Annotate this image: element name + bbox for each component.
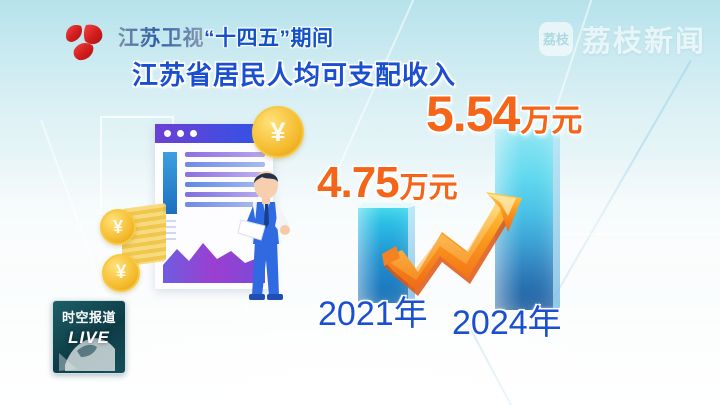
live-badge: 时空报道 LIVE: [52, 300, 126, 374]
rising-zigzag-arrow-icon: [382, 192, 522, 300]
value-label-2024: 5.54万元: [426, 85, 582, 143]
page-title-line-1: 江苏卫视“十四五”期间: [118, 22, 334, 52]
jiangsu-tv-swoosh-icon: [62, 20, 114, 64]
businessman-icon: [235, 168, 297, 300]
yen-coin-icon: ¥: [100, 209, 136, 245]
value-number: 5.54: [426, 86, 519, 142]
title-line-1-rest: “十四五”期间: [204, 27, 334, 50]
window-dot: [164, 130, 171, 137]
lizhi-logo-icon: 荔枝: [539, 22, 573, 56]
bg-streak: [40, 119, 107, 298]
value-number: 4.75: [317, 158, 399, 207]
category-label-2024: 2024年: [452, 295, 562, 344]
channel-logo-text: 江苏卫视: [118, 27, 204, 50]
finance-illustration: ¥ ¥ ¥: [100, 106, 312, 306]
yen-coin-icon: ¥: [102, 254, 140, 292]
value-unit: 万元: [400, 172, 458, 204]
broadcast-graphic: 江苏卫视“十四五”期间 江苏省居民人均可支配收入 荔枝 荔枝新闻: [0, 0, 720, 405]
bg-gridline: [560, 234, 720, 235]
live-badge-title: 时空报道: [53, 307, 125, 326]
watermark-text: 荔枝新闻: [582, 18, 706, 60]
window-text-line: [185, 162, 265, 167]
yen-coin-big-icon: ¥: [252, 106, 304, 158]
bg-gridline: [575, 262, 720, 263]
bar-side-face: [553, 126, 560, 310]
value-label-2021: 4.75万元: [317, 158, 458, 208]
window-dot: [190, 130, 197, 137]
value-unit: 万元: [520, 103, 582, 138]
window-text-line: [185, 152, 265, 157]
bg-streak: [124, 300, 252, 405]
category-label-2021: 2021年: [318, 286, 428, 335]
channel-watermark: 荔枝 荔枝新闻: [539, 18, 706, 60]
live-badge-word: LIVE: [53, 328, 125, 348]
page-title-line-2: 江苏省居民人均可支配收入: [132, 55, 456, 92]
window-dot: [177, 130, 184, 137]
